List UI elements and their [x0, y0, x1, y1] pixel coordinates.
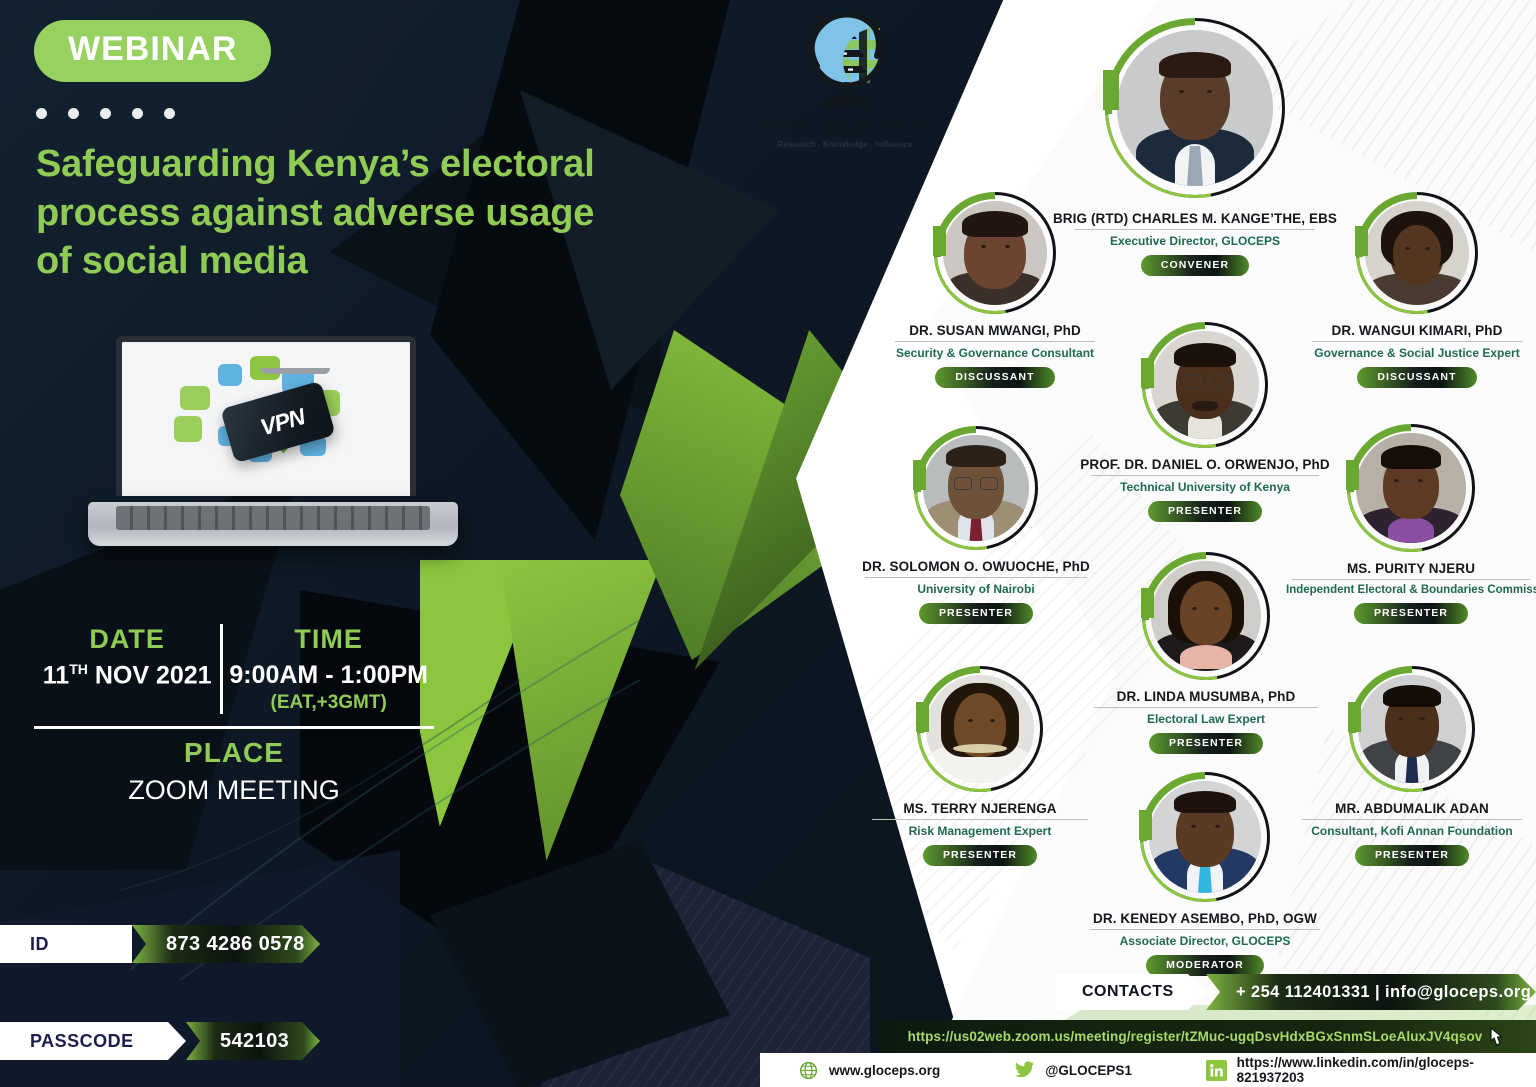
speaker-badge: MODERATOR	[1146, 955, 1264, 976]
divider	[1075, 229, 1315, 230]
twitter-handle[interactable]: @GLOCEPS1	[1045, 1063, 1132, 1078]
ring-accent	[916, 702, 929, 732]
laptop-illustration: VPN	[110, 336, 440, 566]
date-day: 11	[43, 661, 69, 689]
avatar	[917, 666, 1043, 792]
avatar	[1140, 772, 1270, 902]
speaker-badge: DISCUSSANT	[935, 367, 1054, 388]
vpn-artwork: VPN	[122, 342, 410, 496]
date-rest: NOV 2021	[88, 661, 212, 689]
speaker-role: Associate Director, GLOCEPS	[1072, 934, 1338, 948]
logo-title: THE GLOBAL CENTRE FOR POLICY AND STRATEG…	[745, 116, 945, 136]
avatar	[1142, 552, 1270, 680]
date-label: DATE	[40, 624, 214, 655]
speaker-name: MS. TERRY NJERENGA	[856, 801, 1104, 816]
chat-bubble	[180, 386, 210, 410]
date-ordinal: TH	[69, 661, 88, 677]
event-time: TIME 9:00AM - 1:00PM (EAT,+3GMT)	[223, 624, 434, 714]
speaker-badge: PRESENTER	[1354, 603, 1468, 624]
speaker-badge: PRESENTER	[1148, 501, 1262, 522]
time-value: 9:00AM - 1:00PM	[229, 661, 428, 690]
vpn-label: VPN	[257, 403, 307, 441]
divider	[865, 577, 1087, 578]
avatar	[1105, 18, 1285, 198]
chat-bubble	[174, 416, 202, 442]
time-zone: (EAT,+3GMT)	[229, 692, 428, 714]
ring-accent	[1141, 588, 1154, 618]
ring-accent	[1348, 702, 1361, 732]
speaker-badge: PRESENTER	[923, 845, 1037, 866]
laptop-screen: VPN	[116, 336, 416, 496]
webinar-badge: WEBINAR	[34, 20, 271, 82]
laptop-base	[88, 502, 458, 546]
ring-accent	[933, 226, 946, 256]
divider	[1091, 475, 1319, 476]
ring-accent	[1141, 358, 1154, 388]
speaker-badge: PRESENTER	[1149, 733, 1263, 754]
contacts-label: CONTACTS	[1056, 974, 1206, 1010]
twitter-icon	[1014, 1060, 1035, 1081]
laptop-hinge	[260, 368, 330, 374]
footer-linkedin[interactable]: https://www.linkedin.com/in/gloceps-8219…	[1206, 1055, 1536, 1085]
event-details: DATE 11TH NOV 2021 TIME 9:00AM - 1:00PM …	[34, 624, 434, 806]
speaker-card: DR. SOLOMON O. OWUOCHE, PhD University o…	[852, 426, 1100, 624]
footer-bar: www.gloceps.org @GLOCEPS1 https://www.li…	[760, 1053, 1536, 1087]
chat-bubble	[218, 364, 242, 386]
ring-accent	[1346, 460, 1359, 490]
avatar	[1356, 192, 1478, 314]
event-place: PLACE ZOOM MEETING	[34, 737, 434, 806]
meeting-passcode-bar: PASSCODE 542103	[0, 1022, 320, 1060]
linkedin-icon	[1206, 1060, 1227, 1081]
time-label: TIME	[229, 624, 428, 655]
speaker-badge: PRESENTER	[919, 603, 1033, 624]
contacts-bar: CONTACTS + 254 112401331 | info@gloceps.…	[1056, 974, 1536, 1010]
speaker-badge: CONVENER	[1141, 255, 1249, 276]
laptop-keyboard	[116, 506, 430, 530]
cursor-hand-icon	[1488, 1026, 1508, 1048]
avatar	[1349, 666, 1475, 792]
speaker-card: MS. TERRY NJERENGA Risk Management Exper…	[856, 666, 1104, 866]
divider	[1312, 341, 1522, 342]
speaker-name: DR. KENEDY ASEMBO, PhD, OGW	[1072, 911, 1338, 926]
footer-twitter[interactable]: @GLOCEPS1	[1014, 1060, 1132, 1081]
divider	[34, 726, 434, 729]
avatar	[1142, 322, 1268, 448]
ring-accent	[1355, 226, 1368, 256]
webinar-poster: WEBINAR Safeguarding Kenya’s electoral p…	[0, 0, 1536, 1087]
divider	[1090, 929, 1320, 930]
meeting-passcode-label: PASSCODE	[0, 1022, 186, 1060]
speaker-role: Risk Management Expert	[856, 824, 1104, 838]
divider	[895, 341, 1095, 342]
divider	[1094, 707, 1318, 708]
meeting-id-value: 873 4286 0578	[132, 925, 320, 963]
place-value: ZOOM MEETING	[34, 775, 434, 806]
divider	[872, 819, 1088, 820]
event-date: DATE 11TH NOV 2021	[34, 624, 223, 714]
globe-icon	[798, 1060, 819, 1081]
globe-logo-icon	[785, 6, 905, 114]
speaker-badge: DISCUSSANT	[1357, 367, 1476, 388]
website-url[interactable]: www.gloceps.org	[829, 1063, 940, 1078]
footer-website[interactable]: www.gloceps.org	[798, 1060, 940, 1081]
date-value: 11TH NOV 2021	[40, 661, 214, 690]
place-label: PLACE	[34, 737, 434, 769]
meeting-id-bar: ID 873 4286 0578	[0, 925, 320, 963]
meeting-passcode-value: 542103	[186, 1022, 320, 1060]
logo-tagline: Research . Knowledge . Influence	[745, 139, 945, 149]
avatar	[934, 192, 1056, 314]
page-title: Safeguarding Kenya’s electoral process a…	[36, 140, 616, 286]
linkedin-url[interactable]: https://www.linkedin.com/in/gloceps-8219…	[1237, 1055, 1536, 1085]
ring-accent	[1103, 70, 1119, 110]
speaker-role: University of Nairobi	[852, 582, 1100, 596]
decorative-dots	[36, 108, 175, 119]
zoom-registration-link[interactable]: https://us02web.zoom.us/meeting/register…	[908, 1029, 1483, 1044]
avatar	[914, 426, 1038, 550]
speaker-name: DR. SOLOMON O. OWUOCHE, PhD	[852, 559, 1100, 574]
contacts-value: + 254 112401331 | info@gloceps.org	[1206, 974, 1536, 1010]
avatar	[1347, 424, 1475, 552]
ring-accent	[1139, 810, 1152, 840]
speaker-badge: PRESENTER	[1355, 845, 1469, 866]
registration-link-bar[interactable]: https://us02web.zoom.us/meeting/register…	[880, 1020, 1536, 1053]
ring-accent	[913, 460, 926, 490]
organization-logo: THE GLOBAL CENTRE FOR POLICY AND STRATEG…	[745, 6, 945, 149]
meeting-id-label: ID	[0, 925, 132, 963]
speaker-card: DR. KENEDY ASEMBO, PhD, OGW Associate Di…	[1072, 772, 1338, 976]
